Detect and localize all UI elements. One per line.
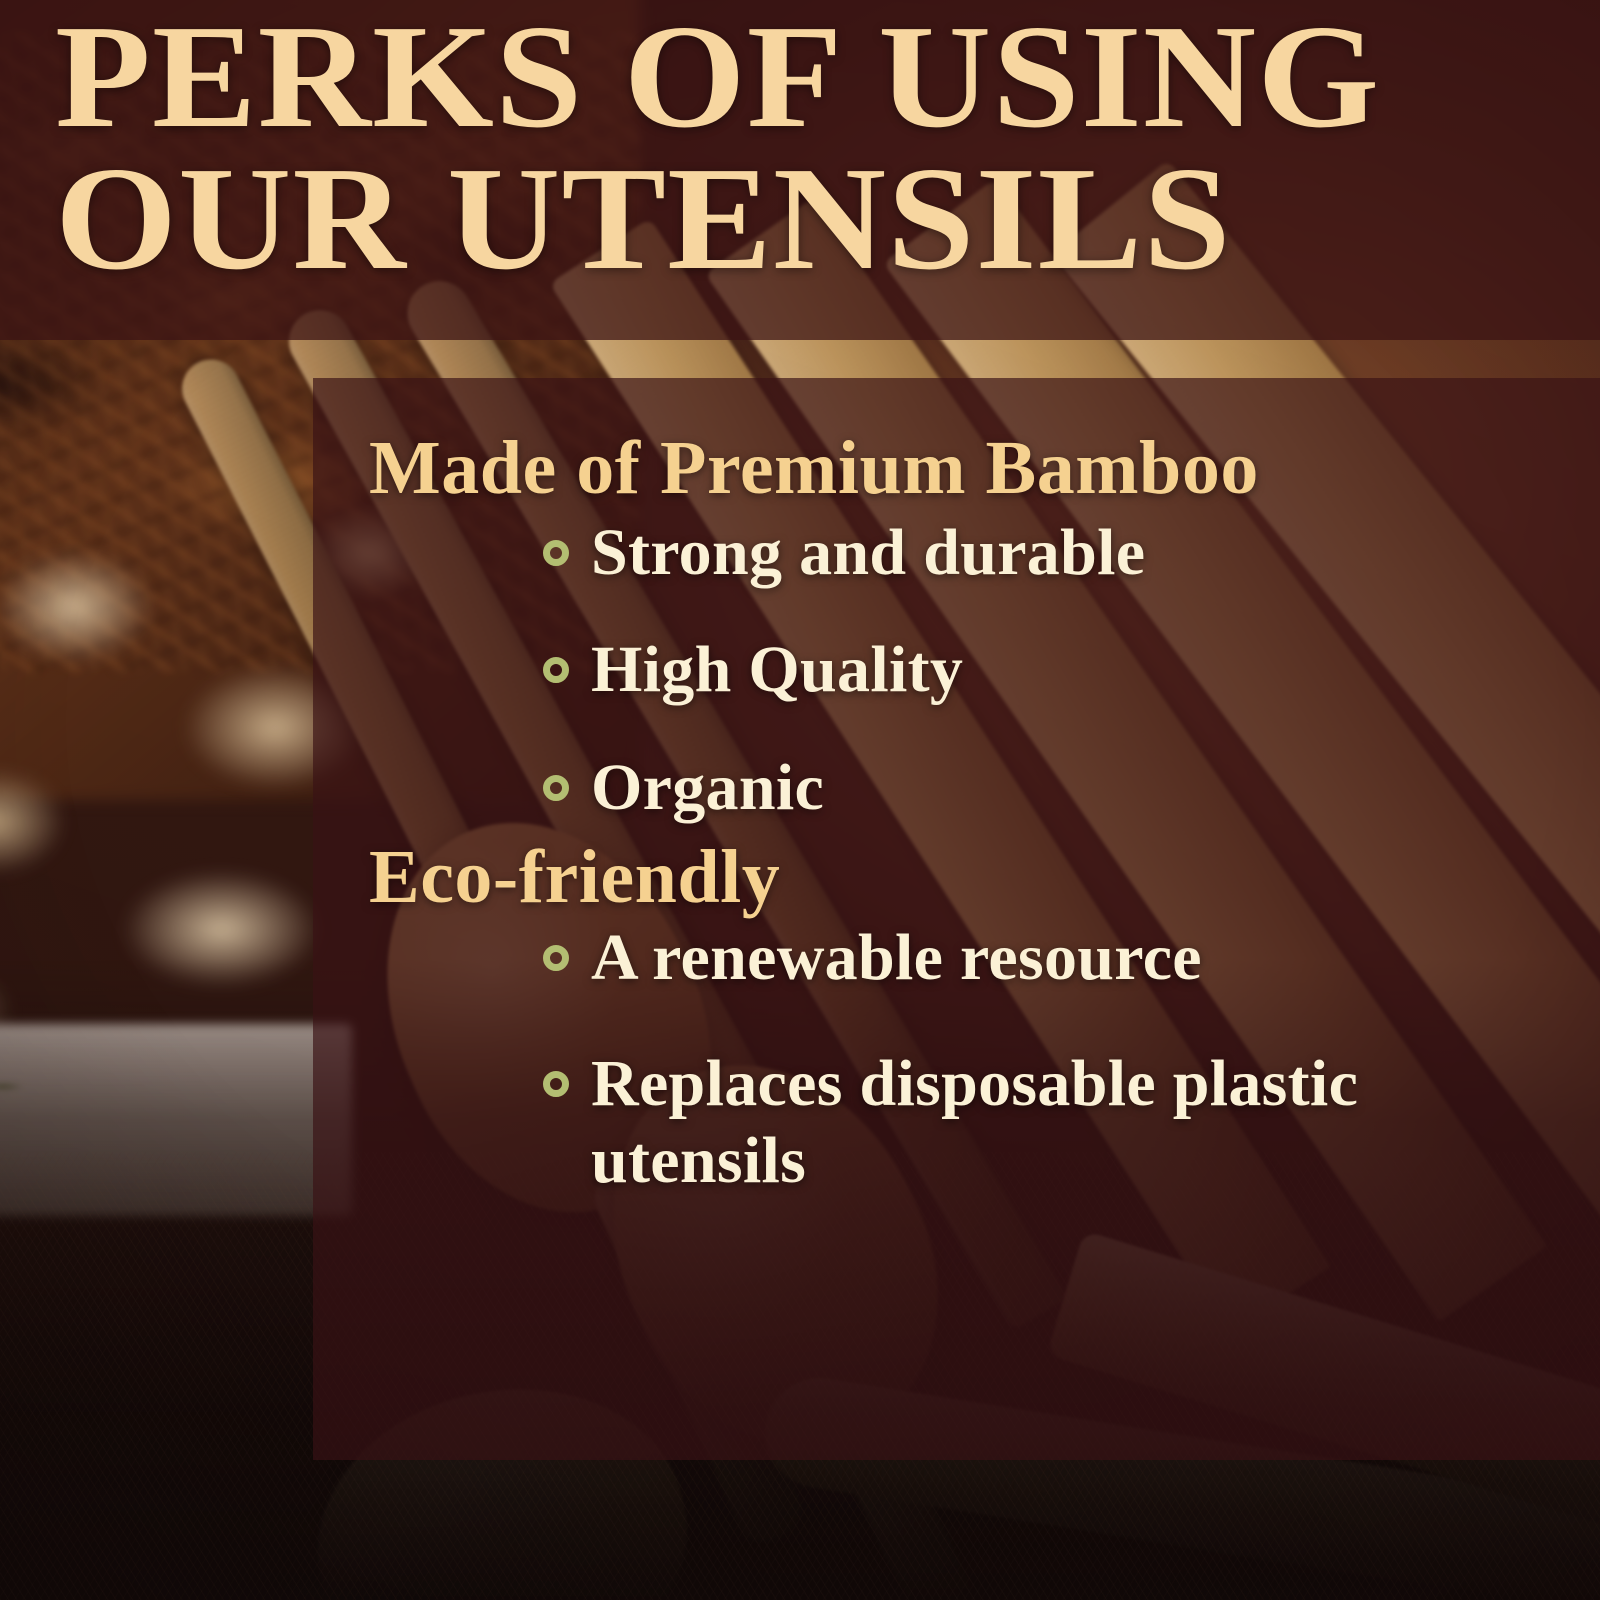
benefits-content: Made of Premium Bamboo Strong and durabl… (313, 378, 1600, 1460)
list-item: Strong and durable (365, 514, 1566, 592)
poster-title: PERKS OF USING OUR UTENSILS (55, 6, 1433, 290)
list-item: Organic (365, 749, 1566, 827)
poster-canvas: PERKS OF USING OUR UTENSILS Made of Prem… (0, 0, 1600, 1600)
poster-title-line-1: PERKS OF USING (55, 6, 1433, 148)
list-item-label: Organic (591, 749, 824, 827)
spacer (365, 605, 1566, 631)
list-item-label: Replaces disposable plastic utensils (591, 1045, 1421, 1201)
list-item-label: Strong and durable (591, 514, 1145, 592)
list-item: Replaces disposable plastic utensils (365, 1045, 1566, 1201)
bullet-list-bamboo: Strong and durable High Quality Organic (365, 514, 1566, 828)
list-item-label: High Quality (591, 631, 963, 709)
spacer (365, 723, 1566, 749)
spacer (365, 1011, 1566, 1045)
section-heading-eco: Eco-friendly (369, 839, 1566, 917)
bullet-list-eco: A renewable resource Replaces disposable… (365, 919, 1566, 1201)
list-item: A renewable resource (365, 919, 1566, 997)
bullet-circle-icon (543, 945, 569, 971)
section-heading-bamboo: Made of Premium Bamboo (369, 430, 1566, 508)
bullet-circle-icon (543, 657, 569, 683)
list-item: High Quality (365, 631, 1566, 709)
bullet-circle-icon (543, 540, 569, 566)
bullet-circle-icon (543, 1071, 569, 1097)
list-item-label: A renewable resource (591, 919, 1202, 997)
bullet-circle-icon (543, 775, 569, 801)
poster-title-line-2: OUR UTENSILS (55, 148, 1433, 290)
